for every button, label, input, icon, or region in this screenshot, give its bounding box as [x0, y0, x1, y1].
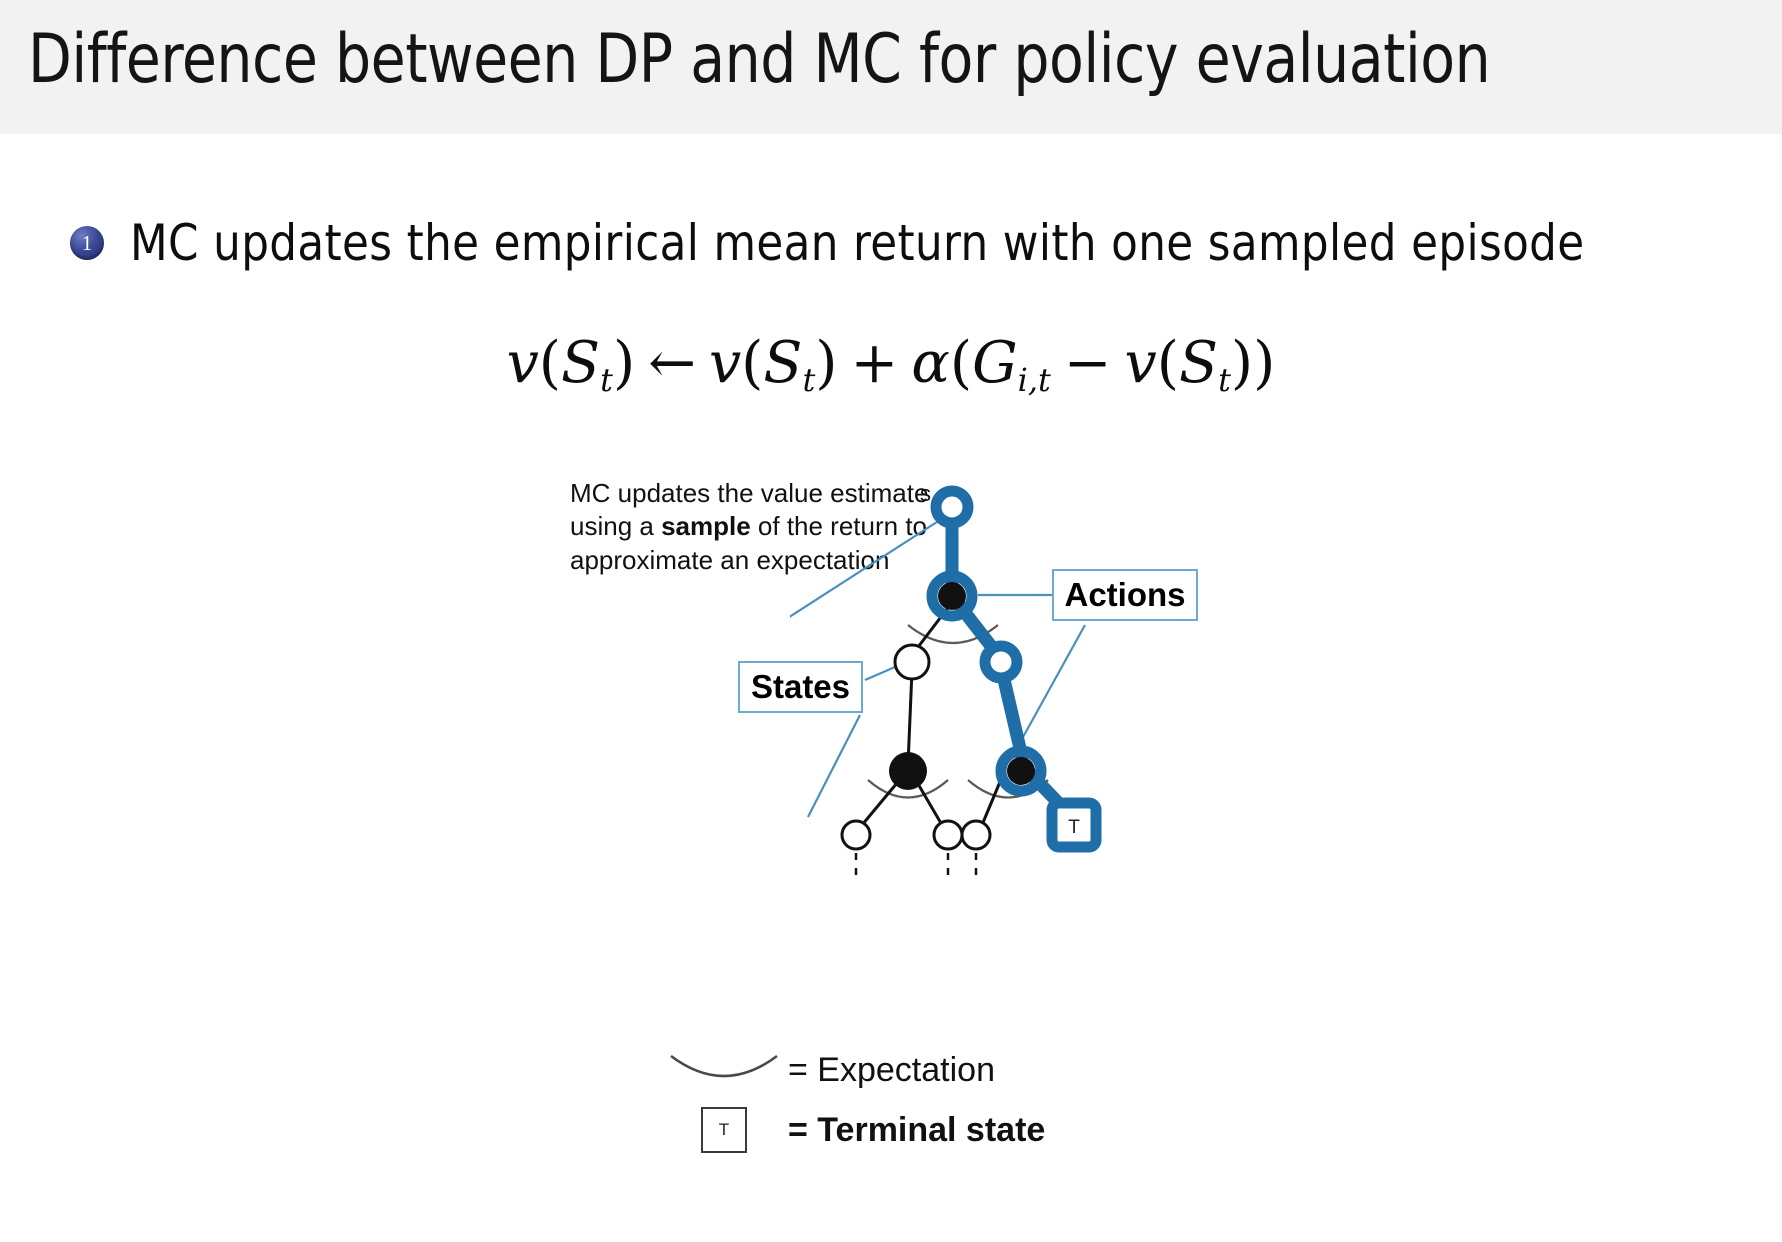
caption-emphasis-sample: sample: [661, 511, 751, 541]
continuation-dashes: [856, 853, 976, 883]
formula-alpha: α: [911, 330, 950, 396]
legend-row-expectation: = Expectation: [660, 1040, 1180, 1100]
diagram-legend: = Expectation T = Terminal state: [660, 1040, 1180, 1160]
legend-label-expectation: = Expectation: [788, 1051, 995, 1090]
formula-plus: +: [851, 330, 899, 396]
root-state-node: [936, 491, 968, 523]
leaf-state-3: [962, 821, 990, 849]
callout-states[interactable]: States: [738, 661, 863, 713]
formula-lhs: v(St): [507, 330, 636, 396]
legend-row-terminal: T = Terminal state: [660, 1100, 1180, 1160]
leaf-state-2: [934, 821, 962, 849]
legend-label-terminal: = Terminal state: [788, 1111, 1045, 1150]
terminal-square-glyph: T: [701, 1107, 747, 1153]
terminal-square-icon: T: [660, 1107, 788, 1153]
edge-state-left-to-action-left: [908, 670, 912, 765]
mc-backup-diagram: MC updates the value estimate using a sa…: [560, 465, 1260, 885]
bullet-item-1: 1 MC updates the empirical mean return w…: [70, 214, 1629, 272]
update-formula: v(St)←v(St)+α(Gi,t−v(St)): [0, 330, 1782, 399]
root-state-label: s: [920, 481, 931, 506]
slide-title-bar: Difference between DP and MC for policy …: [0, 0, 1782, 134]
action-node-left: [889, 752, 927, 790]
leaf-state-1: [842, 821, 870, 849]
action-node-right: [1007, 757, 1035, 785]
page-title: Difference between DP and MC for policy …: [28, 20, 1490, 99]
expectation-arc-icon: [660, 1050, 788, 1090]
formula-minus: −: [1064, 330, 1112, 396]
formula-arrow: ←: [648, 330, 696, 396]
leader-caption-to-root: [790, 520, 940, 755]
highlight-state-right-to-action-right: [1002, 671, 1022, 757]
caption-line-2-pre: using a: [570, 511, 661, 541]
bullet-number-badge: 1: [70, 226, 104, 260]
formula-rhs-v: v(St): [709, 330, 838, 396]
terminal-state-label: T: [1068, 817, 1080, 838]
bullet-item-label: MC updates the empirical mean return wit…: [130, 214, 1584, 272]
action-node-1: [938, 582, 966, 610]
formula-return: Gi,t: [972, 330, 1051, 396]
leader-states-to-leaf: [808, 715, 860, 817]
formula-sub-v: v(St): [1125, 330, 1254, 396]
callout-actions[interactable]: Actions: [1052, 569, 1198, 621]
state-node-right-highlighted: [985, 646, 1017, 678]
edge-action-right-to-leaf-3: [982, 777, 1002, 825]
state-node-left: [895, 645, 929, 679]
